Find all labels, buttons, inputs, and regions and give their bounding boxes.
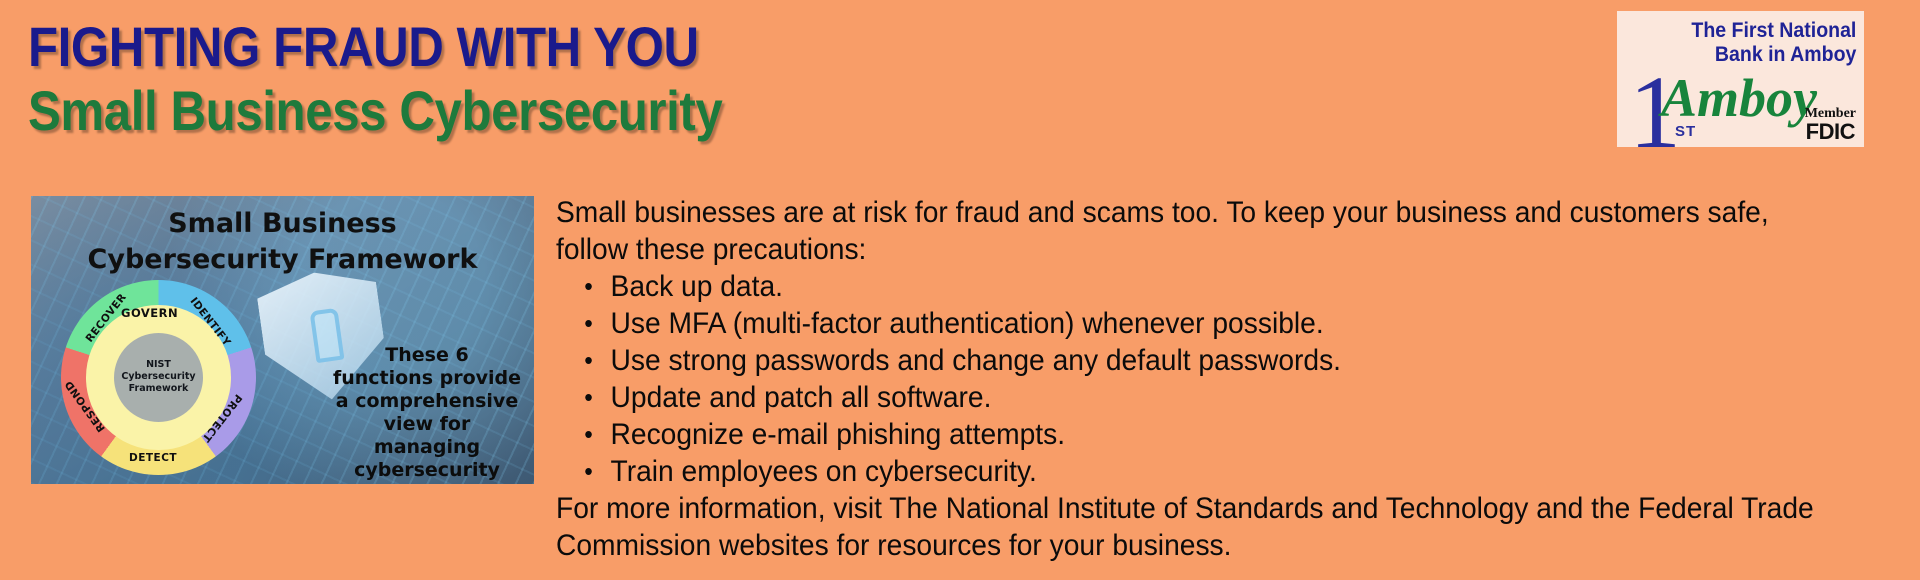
ring-label-detect: DETECT	[129, 452, 177, 464]
list-item: Recognize e-mail phishing attempts.	[611, 416, 1824, 453]
donut-center-text: NIST Cybersecurity Framework	[121, 359, 195, 395]
list-item: Back up data.	[611, 268, 1824, 305]
banner-body-copy: Small businesses are at risk for fraud a…	[556, 194, 1823, 564]
bank-logo-title: The First National Bank in Amboy	[1691, 19, 1856, 67]
list-item: Use MFA (multi-factor authentication) wh…	[611, 305, 1824, 342]
donut-center-line-3: Framework	[121, 383, 195, 395]
list-item: Update and patch all software.	[611, 379, 1824, 416]
banner-heading-primary: FIGHTING FRAUD WITH YOU	[28, 16, 1401, 78]
banner-headings: FIGHTING FRAUD WITH YOU Small Business C…	[28, 16, 1588, 144]
nist-framework-donut-chart: NIST Cybersecurity Framework GOVERN IDEN…	[61, 280, 256, 475]
body-outro-paragraph: For more information, visit The National…	[556, 490, 1823, 564]
list-item: Use strong passwords and change any defa…	[611, 342, 1824, 379]
fdic-member-mark: Member FDIC	[1805, 107, 1856, 143]
framework-image-title: Small Business Cybersecurity Framework	[31, 206, 534, 278]
framework-note-text: These 6 functions provide a comprehensiv…	[332, 344, 522, 484]
bank-logo-title-line-1: The First National	[1691, 19, 1856, 43]
fraud-awareness-banner: FIGHTING FRAUD WITH YOU Small Business C…	[0, 0, 1920, 580]
body-intro-paragraph: Small businesses are at risk for fraud a…	[556, 194, 1823, 268]
donut-center-line-1: NIST	[121, 359, 195, 371]
fdic-label: FDIC	[1805, 121, 1856, 143]
precautions-list: Back up data. Use MFA (multi-factor auth…	[556, 268, 1823, 490]
list-item: Train employees on cybersecurity.	[611, 453, 1824, 490]
framework-title-line-2: Cybersecurity Framework	[31, 242, 534, 278]
bank-logo: The First National Bank in Amboy 1 ST Am…	[1617, 11, 1864, 147]
donut-center-line-2: Cybersecurity	[121, 371, 195, 383]
framework-title-line-1: Small Business	[31, 206, 534, 242]
donut-center-hub: NIST Cybersecurity Framework	[114, 333, 204, 423]
ring-label-govern: GOVERN	[121, 306, 178, 320]
amboy-script-wordmark: Amboy	[1661, 69, 1817, 127]
cybersecurity-framework-image: Small Business Cybersecurity Framework N…	[31, 196, 534, 484]
bank-logo-mark: 1 ST Amboy	[1623, 61, 1813, 147]
banner-heading-secondary: Small Business Cybersecurity	[28, 78, 1401, 144]
